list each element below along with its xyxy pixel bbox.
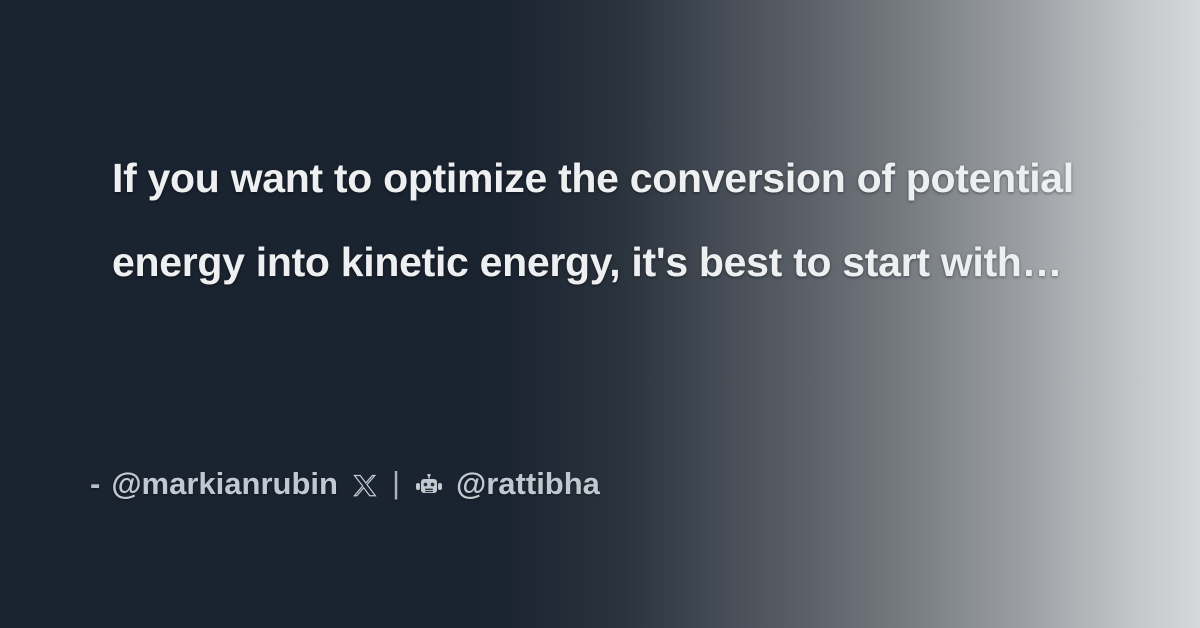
attribution-separator: |: [392, 465, 400, 501]
quote-text: If you want to optimize the conversion o…: [112, 136, 1172, 304]
author-handle[interactable]: @markianrubin: [111, 466, 338, 502]
quote-block: If you want to optimize the conversion o…: [112, 136, 1172, 304]
robot-icon: [414, 474, 444, 500]
gradient-overlay: [0, 0, 1200, 628]
attribution-dash: -: [90, 466, 100, 502]
source-handle[interactable]: @rattibha: [456, 466, 600, 502]
quote-card: of a marble rolling down a ocation on ra…: [0, 0, 1200, 628]
x-logo-icon[interactable]: [352, 473, 379, 500]
attribution-line: - @markianrubin | @rattibha: [90, 466, 600, 502]
